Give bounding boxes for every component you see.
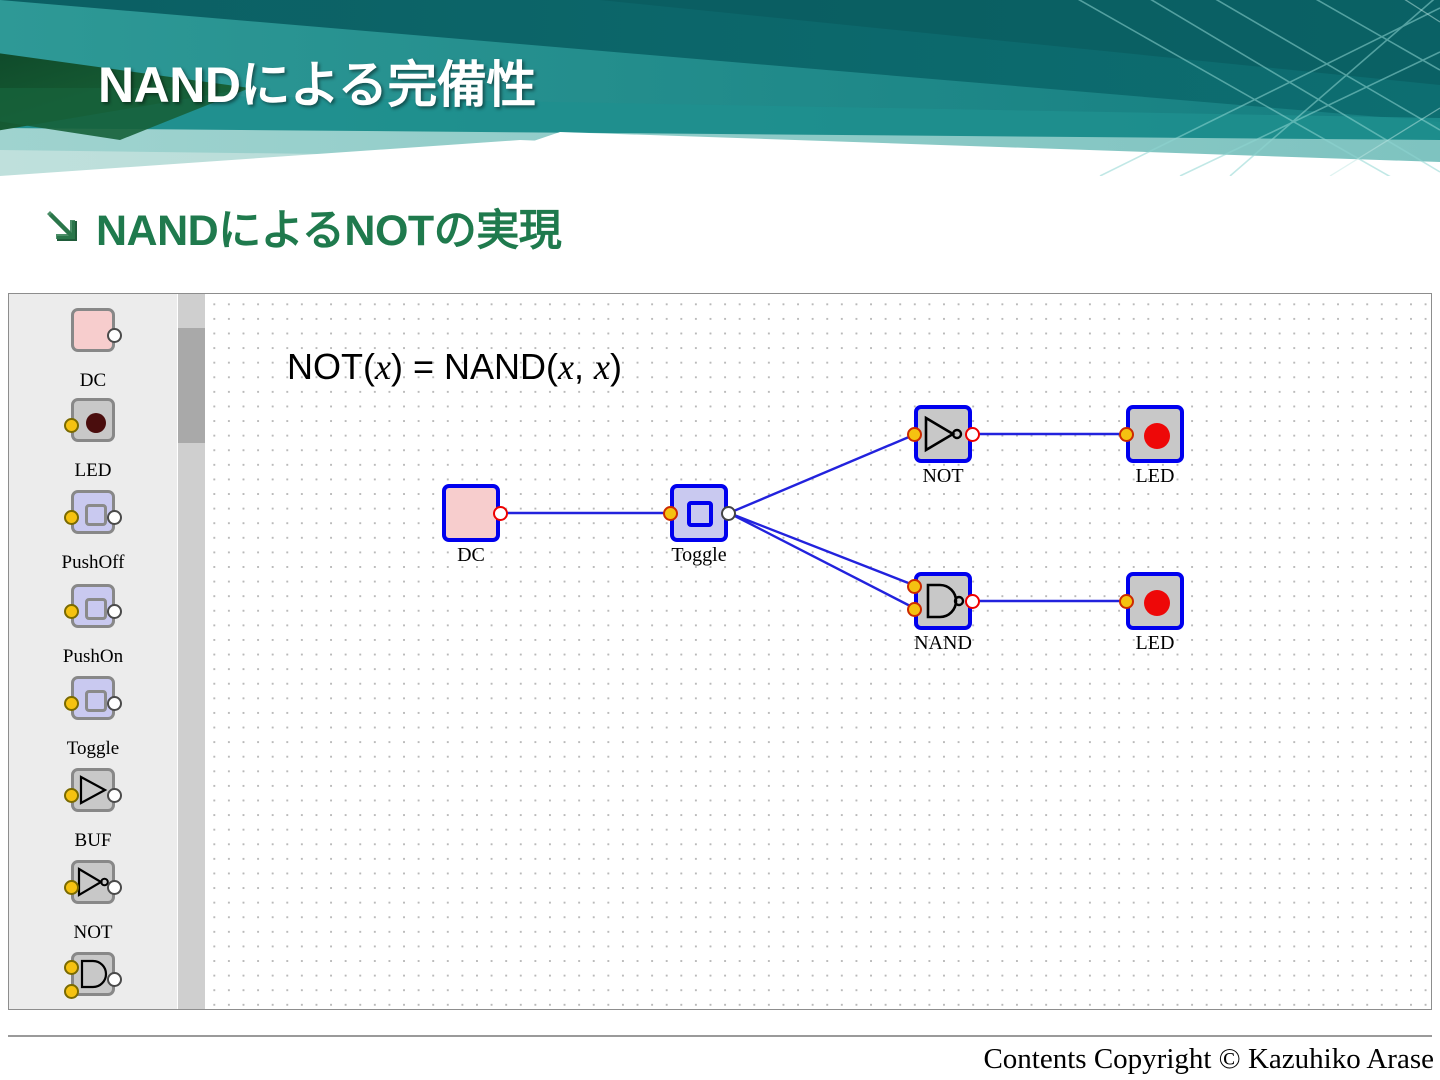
- input-pin-2[interactable]: [907, 602, 922, 617]
- palette-item-label: PushOn: [9, 647, 177, 667]
- input-pin[interactable]: [1119, 427, 1134, 442]
- not-gate-icon: [59, 854, 127, 922]
- wire-layer: [205, 294, 1431, 1009]
- page-title: NANDによる完備性: [98, 45, 536, 117]
- node-label: NOT: [890, 465, 996, 488]
- dc-source-icon: [59, 302, 127, 370]
- output-pin[interactable]: [721, 506, 736, 521]
- input-pin[interactable]: [1119, 594, 1134, 609]
- push-on-icon: [59, 578, 127, 646]
- section-heading-row: NANDによるNOTの実現: [46, 196, 561, 258]
- palette-scrollbar-thumb[interactable]: [178, 328, 205, 443]
- led-icon: [1126, 572, 1184, 630]
- output-pin[interactable]: [493, 506, 508, 521]
- arrow-down-right-icon: [46, 205, 82, 249]
- dc-source-icon: [442, 484, 500, 542]
- node-label: Toggle: [646, 544, 752, 567]
- input-pin[interactable]: [663, 506, 678, 521]
- and-gate-icon: [59, 946, 127, 1010]
- node-label: LED: [1102, 632, 1208, 655]
- palette-item-pushon[interactable]: PushOn: [9, 578, 177, 667]
- palette-item-label: BUF: [9, 831, 177, 851]
- palette-item-and[interactable]: [9, 946, 177, 1010]
- palette-item-buf[interactable]: BUF: [9, 762, 177, 851]
- input-pin-1[interactable]: [907, 579, 922, 594]
- palette-item-not[interactable]: NOT: [9, 854, 177, 943]
- palette-item-toggle[interactable]: Toggle: [9, 670, 177, 759]
- circuit-canvas[interactable]: NOT(x) = NAND(x, x): [205, 294, 1431, 1009]
- palette-item-led[interactable]: LED: [9, 392, 177, 481]
- nand-gate-icon: [914, 572, 972, 630]
- output-pin[interactable]: [965, 594, 980, 609]
- palette-item-label: NOT: [9, 923, 177, 943]
- push-off-icon: [59, 484, 127, 552]
- toggle-switch-icon: [59, 670, 127, 738]
- palette-item-pushoff[interactable]: PushOff: [9, 484, 177, 573]
- palette-item-label: DC: [9, 371, 177, 391]
- node-label: DC: [418, 544, 524, 567]
- title-banner: NANDによる完備性: [0, 0, 1440, 176]
- palette-item-label: Toggle: [9, 739, 177, 759]
- circuit-simulator-window[interactable]: DC LED PushOff: [8, 293, 1432, 1010]
- input-pin[interactable]: [907, 427, 922, 442]
- section-heading: NANDによるNOTの実現: [96, 196, 561, 258]
- led-icon: [1126, 405, 1184, 463]
- footer-copyright: Contents Copyright © Kazuhiko Arase: [983, 1043, 1434, 1076]
- palette-item-label: LED: [9, 461, 177, 481]
- led-icon: [59, 392, 127, 460]
- toggle-switch-icon: [670, 484, 728, 542]
- footer-divider: [8, 1035, 1432, 1037]
- component-palette[interactable]: DC LED PushOff: [9, 294, 177, 1009]
- output-pin[interactable]: [965, 427, 980, 442]
- buffer-gate-icon: [59, 762, 127, 830]
- palette-item-dc[interactable]: DC: [9, 302, 177, 391]
- node-label: NAND: [890, 632, 996, 655]
- palette-item-label: PushOff: [9, 553, 177, 573]
- palette-scrollbar[interactable]: [178, 294, 205, 1009]
- node-label: LED: [1102, 465, 1208, 488]
- not-gate-icon: [914, 405, 972, 463]
- slide: NANDによる完備性 NANDによるNOTの実現 DC: [0, 0, 1440, 1080]
